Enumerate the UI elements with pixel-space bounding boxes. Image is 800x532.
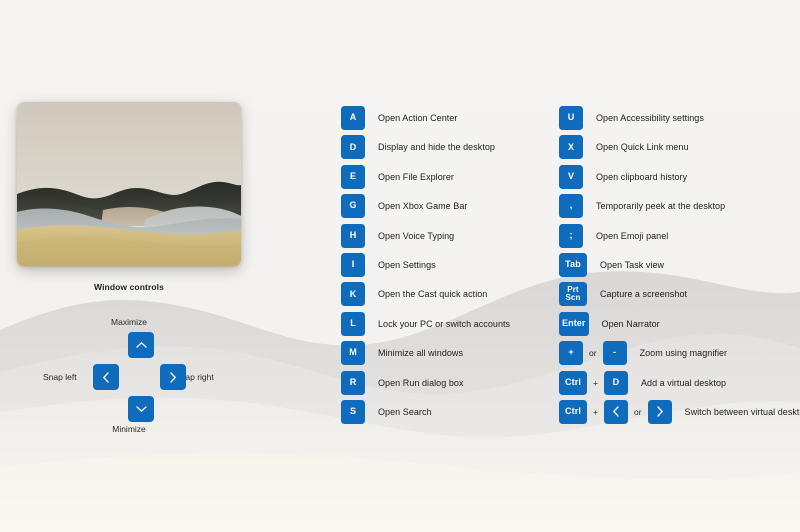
key--[interactable]: - [603,341,627,365]
shortcut-description: Open Run dialog box [378,378,464,388]
shortcut-row: GOpen Xbox Game Bar [341,194,551,218]
key-enter[interactable]: Enter [559,312,589,336]
shortcut-row: AOpen Action Center [341,106,551,130]
shortcut-description: Switch between virtual desktops [685,407,800,417]
shortcut-description: Open Emoji panel [596,231,668,241]
shortcut-description: Open Action Center [378,113,457,123]
shortcut-description: Open Quick Link menu [596,142,689,152]
key-,[interactable]: , [559,194,583,218]
chevron-right-icon [169,372,177,383]
shortcut-row: Ctrl+orSwitch between virtual desktops [559,400,799,424]
shortcut-row: SOpen Search [341,400,551,424]
shortcut-description: Open Xbox Game Bar [378,201,467,211]
snap-left-key[interactable] [93,364,119,390]
shortcut-description: Open Accessibility settings [596,113,704,123]
shortcut-description: Display and hide the desktop [378,142,495,152]
wallpaper-thumbnail [17,102,241,266]
key-g[interactable]: G [341,194,365,218]
shortcut-list-left: AOpen Action CenterDDisplay and hide the… [341,106,551,429]
shortcut-row: ROpen Run dialog box [341,371,551,395]
key-i[interactable]: I [341,253,365,277]
shortcut-description: Lock your PC or switch accounts [378,319,510,329]
shortcut-row: KOpen the Cast quick action [341,282,551,306]
shortcut-row: DDisplay and hide the desktop [341,135,551,159]
shortcut-row: TabOpen Task view [559,253,799,277]
chevron-left-icon [612,406,620,417]
snap-left-label: Snap left [43,372,77,382]
shortcut-description: Open Task view [600,260,664,270]
key-m[interactable]: M [341,341,365,365]
chevron-down-icon [136,405,147,413]
key-h[interactable]: H [341,224,365,248]
shortcut-description: Open Voice Typing [378,231,454,241]
shortcuts-poster: Window controls Maximize Minimize Snap l… [0,0,800,532]
shortcut-description: Capture a screenshot [600,289,687,299]
shortcut-list-right: UOpen Accessibility settingsXOpen Quick … [559,106,799,429]
key-l[interactable]: L [341,312,365,336]
shortcut-row: EOpen File Explorer [341,165,551,189]
shortcut-row: ,Temporarily peek at the desktop [559,194,799,218]
shortcut-row: UOpen Accessibility settings [559,106,799,130]
snap-right-key[interactable] [160,364,186,390]
key-d[interactable]: D [604,371,628,395]
shortcut-description: Open Settings [378,260,436,270]
shortcut-row: Ctrl+DAdd a virtual desktop [559,371,799,395]
thumbnail-landscape-image [17,102,241,266]
shortcut-row: EnterOpen Narrator [559,312,799,336]
shortcut-description: Open clipboard history [596,172,687,182]
key-a[interactable]: A [341,106,365,130]
shortcut-description: Temporarily peek at the desktop [596,201,725,211]
key-u[interactable]: U [559,106,583,130]
key-+[interactable]: + [559,341,583,365]
shortcut-row: +or-Zoom using magnifier [559,341,799,365]
minimize-key[interactable] [128,396,154,422]
shortcut-description: Zoom using magnifier [640,348,728,358]
key-e[interactable]: E [341,165,365,189]
chevron-up-icon [136,341,147,349]
key-r[interactable]: R [341,371,365,395]
shortcut-row: MMinimize all windows [341,341,551,365]
shortcut-description: Open Narrator [602,319,660,329]
key-joiner: + [587,407,604,417]
key-v[interactable]: V [559,165,583,189]
shortcut-description: Open File Explorer [378,172,454,182]
key-;[interactable]: ; [559,224,583,248]
key-joiner: or [628,407,648,417]
chevron-left-icon [102,372,110,383]
maximize-label: Maximize [17,317,241,327]
shortcut-row: Prt ScnCapture a screenshot [559,282,799,306]
key-tab[interactable]: Tab [559,253,587,277]
key-ctrl[interactable]: Ctrl [559,400,587,424]
key-chevron-right[interactable] [648,400,672,424]
key-d[interactable]: D [341,135,365,159]
key-prt-scn[interactable]: Prt Scn [559,282,587,306]
shortcut-row: LLock your PC or switch accounts [341,312,551,336]
shortcut-description: Add a virtual desktop [641,378,726,388]
maximize-key[interactable] [128,332,154,358]
key-x[interactable]: X [559,135,583,159]
key-k[interactable]: K [341,282,365,306]
window-controls-title: Window controls [17,282,241,292]
key-ctrl[interactable]: Ctrl [559,371,587,395]
shortcut-description: Open the Cast quick action [378,289,487,299]
chevron-right-icon [656,406,664,417]
key-joiner: or [583,348,603,358]
shortcut-description: Minimize all windows [378,348,463,358]
minimize-label: Minimize [17,424,241,434]
key-s[interactable]: S [341,400,365,424]
window-controls-diagram: Window controls Maximize Minimize Snap l… [17,282,241,442]
shortcut-description: Open Search [378,407,432,417]
shortcut-row: ;Open Emoji panel [559,224,799,248]
shortcut-row: XOpen Quick Link menu [559,135,799,159]
key-joiner: + [587,378,604,388]
key-chevron-left[interactable] [604,400,628,424]
shortcut-row: IOpen Settings [341,253,551,277]
shortcut-row: HOpen Voice Typing [341,224,551,248]
shortcut-row: VOpen clipboard history [559,165,799,189]
